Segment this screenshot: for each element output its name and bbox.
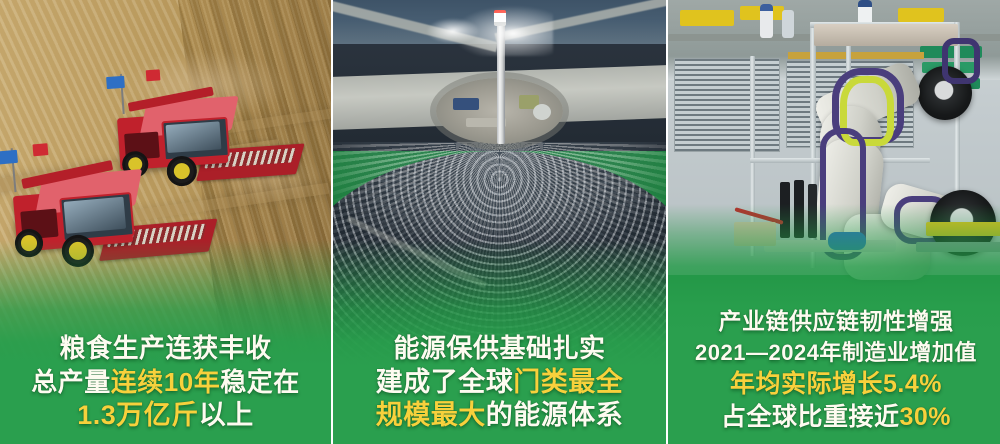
infographic-stage: 粮食生产连获丰收 总产量连续10年稳定在 1.3万亿斤以上: [0, 0, 1000, 444]
caption-seg: 以上: [199, 400, 254, 430]
wall-louver-panel: [674, 58, 780, 152]
caption-line-1: 产业链供应链韧性增强: [668, 310, 1000, 333]
purple-hose: [942, 38, 980, 84]
caption-seg-highlight: 连续10年: [111, 367, 220, 397]
caption-seg-highlight: 年均实际增长5.4%: [730, 370, 942, 398]
caption-seg: 能源保供基础扎实: [393, 333, 605, 363]
overhead-canopy: [814, 24, 958, 46]
secondary-glare: [426, 18, 479, 44]
caption-seg: 产业链供应链韧性增强: [719, 308, 954, 334]
factory-worker-helmet: [760, 4, 773, 11]
caption-seg: 的能源体系: [486, 400, 624, 430]
caption-line-3: 规模最大的能源体系: [333, 402, 666, 430]
caption-seg: 总产量: [31, 367, 111, 397]
harvester-windshield: [64, 197, 127, 234]
caption-line-1: 能源保供基础扎实: [333, 335, 666, 362]
panel-divider-2: [666, 0, 668, 444]
panel-industry: 产业链供应链韧性增强 2021—2024年制造业增加值 年均实际增长5.4% 占…: [668, 0, 1000, 444]
caption-line-4: 占全球比重接近30%: [668, 405, 1000, 431]
caption-seg-highlight: 门类最全: [513, 367, 623, 397]
yellow-fixture: [898, 8, 944, 22]
blue-flag: [106, 76, 125, 89]
factory-worker-helmet: [858, 0, 872, 7]
plaza-equipment: [453, 98, 479, 110]
caption-line-3: 年均实际增长5.4%: [668, 372, 1000, 398]
caption-industry: 产业链供应链韧性增强 2021—2024年制造业增加值 年均实际增长5.4% 占…: [668, 310, 1000, 444]
caption-seg: 粮食生产连获丰收: [59, 333, 271, 363]
caption-line-3: 1.3万亿斤以上: [0, 402, 331, 430]
factory-worker: [760, 8, 773, 38]
caption-seg-highlight: 30%: [899, 403, 951, 431]
yellow-fixture: [680, 10, 734, 26]
wall-accent-stripe: [788, 52, 924, 59]
red-flag: [32, 143, 48, 156]
caption-line-2: 总产量连续10年稳定在: [0, 369, 331, 396]
caption-line-2: 2021—2024年制造业增加值: [668, 342, 1000, 364]
caption-grain: 粮食生产连获丰收 总产量连续10年稳定在 1.3万亿斤以上: [0, 335, 331, 444]
red-flag: [146, 69, 161, 81]
caption-line-1: 粮食生产连获丰收: [0, 335, 331, 362]
plaza-tank: [533, 104, 551, 120]
caption-seg-highlight: 1.3万亿斤: [77, 400, 199, 430]
caption-seg: 稳定在: [220, 367, 300, 397]
caption-line-2: 建成了全球门类最全: [333, 369, 666, 397]
caption-energy: 能源保供基础扎实 建成了全球门类最全 规模最大的能源体系: [333, 335, 666, 444]
caption-seg: 建成了全球: [376, 367, 514, 397]
blue-flag: [0, 150, 18, 165]
panel-grain: 粮食生产连获丰收 总产量连续10年稳定在 1.3万亿斤以上: [0, 0, 331, 444]
panel-energy: 能源保供基础扎实 建成了全球门类最全 规模最大的能源体系: [333, 0, 666, 444]
caption-seg: 占全球比重接近: [721, 403, 900, 431]
factory-worker: [782, 10, 794, 38]
caption-seg-highlight: 规模最大: [376, 400, 486, 430]
panel-divider-1: [331, 0, 333, 444]
caption-seg: 2021—2024年制造业增加值: [695, 340, 977, 365]
